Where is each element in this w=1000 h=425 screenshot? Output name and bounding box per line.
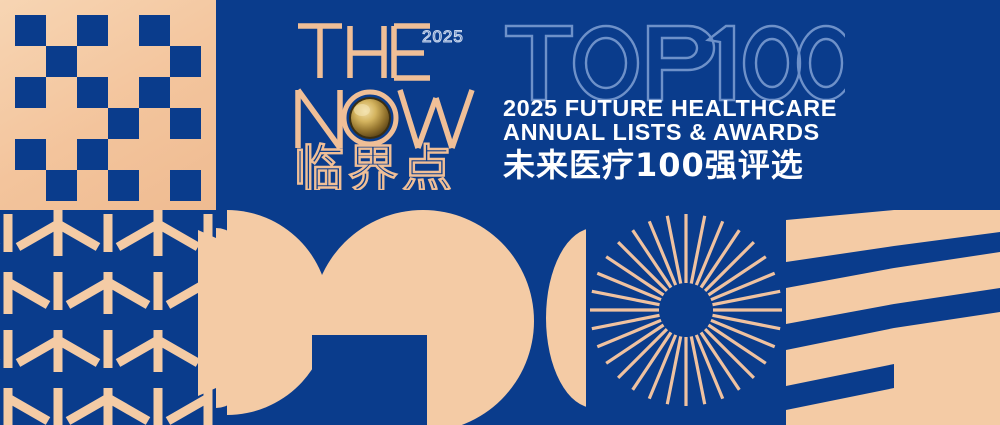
checkerboard-panel <box>0 0 216 210</box>
checkerboard-cell <box>108 108 139 139</box>
semicircle-right-partial <box>546 228 586 408</box>
checkerboard-cell <box>15 139 46 170</box>
checkerboard-cell <box>170 46 201 77</box>
semicircle-group <box>216 210 586 425</box>
checkerboard-cell <box>139 77 170 108</box>
banner: 2025 临界点 <box>0 0 1000 425</box>
disc-notch <box>312 335 427 425</box>
checkerboard-pattern <box>15 15 201 201</box>
checkerboard-cell <box>15 77 46 108</box>
headline-english-line1: 2025 FUTURE HEALTHCARE <box>503 96 845 120</box>
checkerboard-cell <box>108 170 139 201</box>
checkerboard-cell <box>46 46 77 77</box>
checkerboard-cell <box>46 170 77 201</box>
headline-english-line2: ANNUAL LISTS & AWARDS <box>503 120 845 144</box>
svg-text:临界点: 临界点 <box>294 140 456 190</box>
checkerboard-cell <box>77 139 108 170</box>
checkerboard-cell <box>170 170 201 201</box>
checkerboard-cell <box>15 15 46 46</box>
svg-text:2025: 2025 <box>422 27 464 46</box>
checkerboard-cell <box>170 108 201 139</box>
starburst-pattern <box>586 210 786 425</box>
checkerboard-cell <box>77 15 108 46</box>
gold-sphere-icon <box>344 92 396 144</box>
the-now-logo: 2025 临界点 <box>292 18 488 190</box>
checkerboard-cell <box>77 77 108 108</box>
headline-chinese: 未来医疗100强评选 <box>503 146 845 184</box>
headline-block: 2025 FUTURE HEALTHCARE ANNUAL LISTS & AW… <box>500 18 845 198</box>
chevron-stripes-pattern <box>786 210 1000 425</box>
hexagon-lattice-pattern <box>0 210 216 425</box>
checkerboard-cell <box>139 15 170 46</box>
